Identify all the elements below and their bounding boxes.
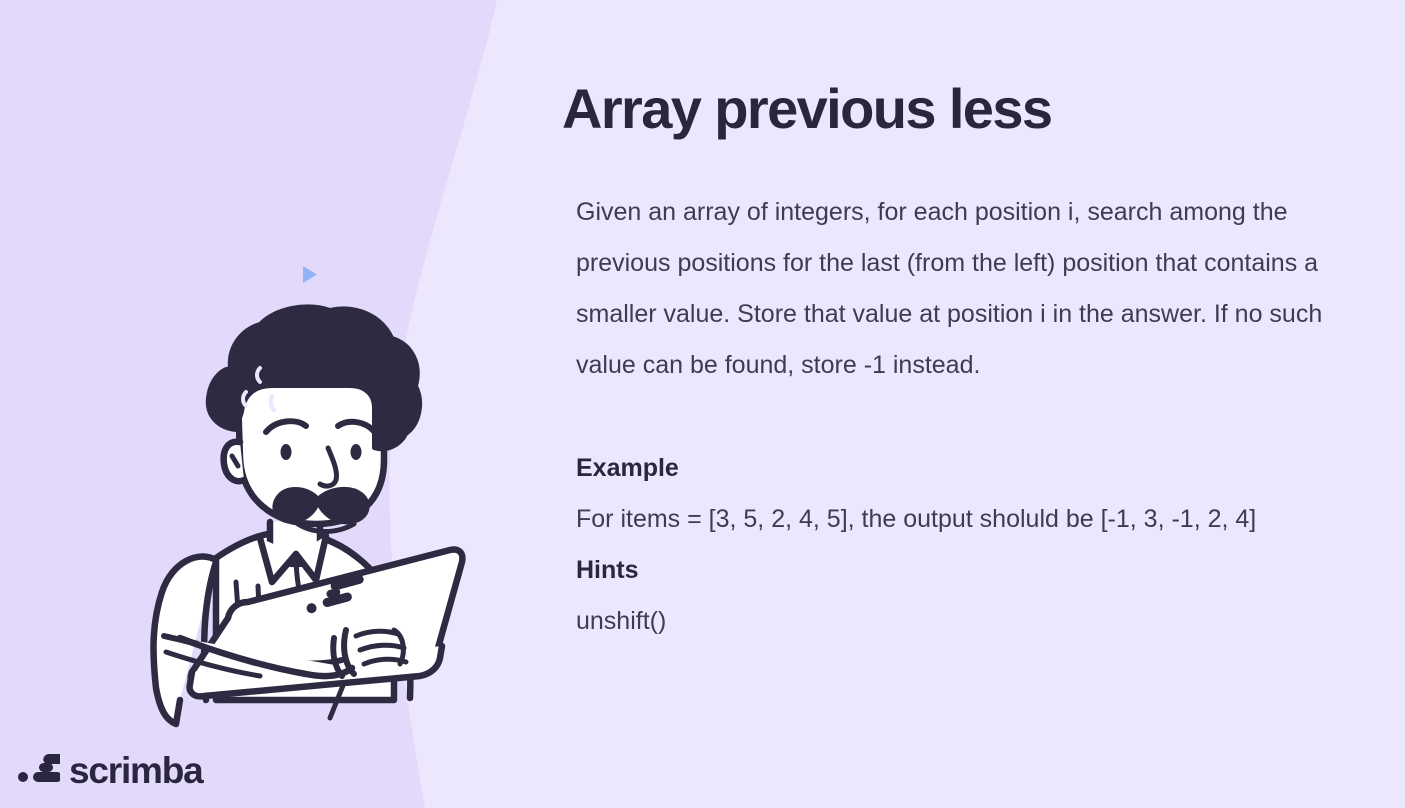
- example-heading: Example: [576, 443, 1362, 494]
- hints-text: unshift(): [576, 596, 1362, 647]
- example-and-hints-block: Example For items = [3, 5, 2, 4, 5], the…: [576, 443, 1362, 647]
- page-title: Array previous less: [562, 78, 1362, 141]
- scrimba-wordmark: scrimba: [69, 752, 203, 789]
- cursor-arrow-icon: [299, 264, 321, 286]
- person-with-laptop-illustration: [120, 300, 520, 730]
- example-text: For items = [3, 5, 2, 4, 5], the output …: [576, 494, 1362, 545]
- challenge-content: Array previous less Given an array of in…: [562, 78, 1362, 647]
- slide-canvas: scrimba Array previous less Given an arr…: [0, 0, 1405, 808]
- scrimba-bars-icon: [18, 752, 60, 789]
- hints-heading: Hints: [576, 545, 1362, 596]
- scrimba-logo[interactable]: scrimba: [18, 752, 203, 789]
- problem-description: Given an array of integers, for each pos…: [576, 187, 1362, 391]
